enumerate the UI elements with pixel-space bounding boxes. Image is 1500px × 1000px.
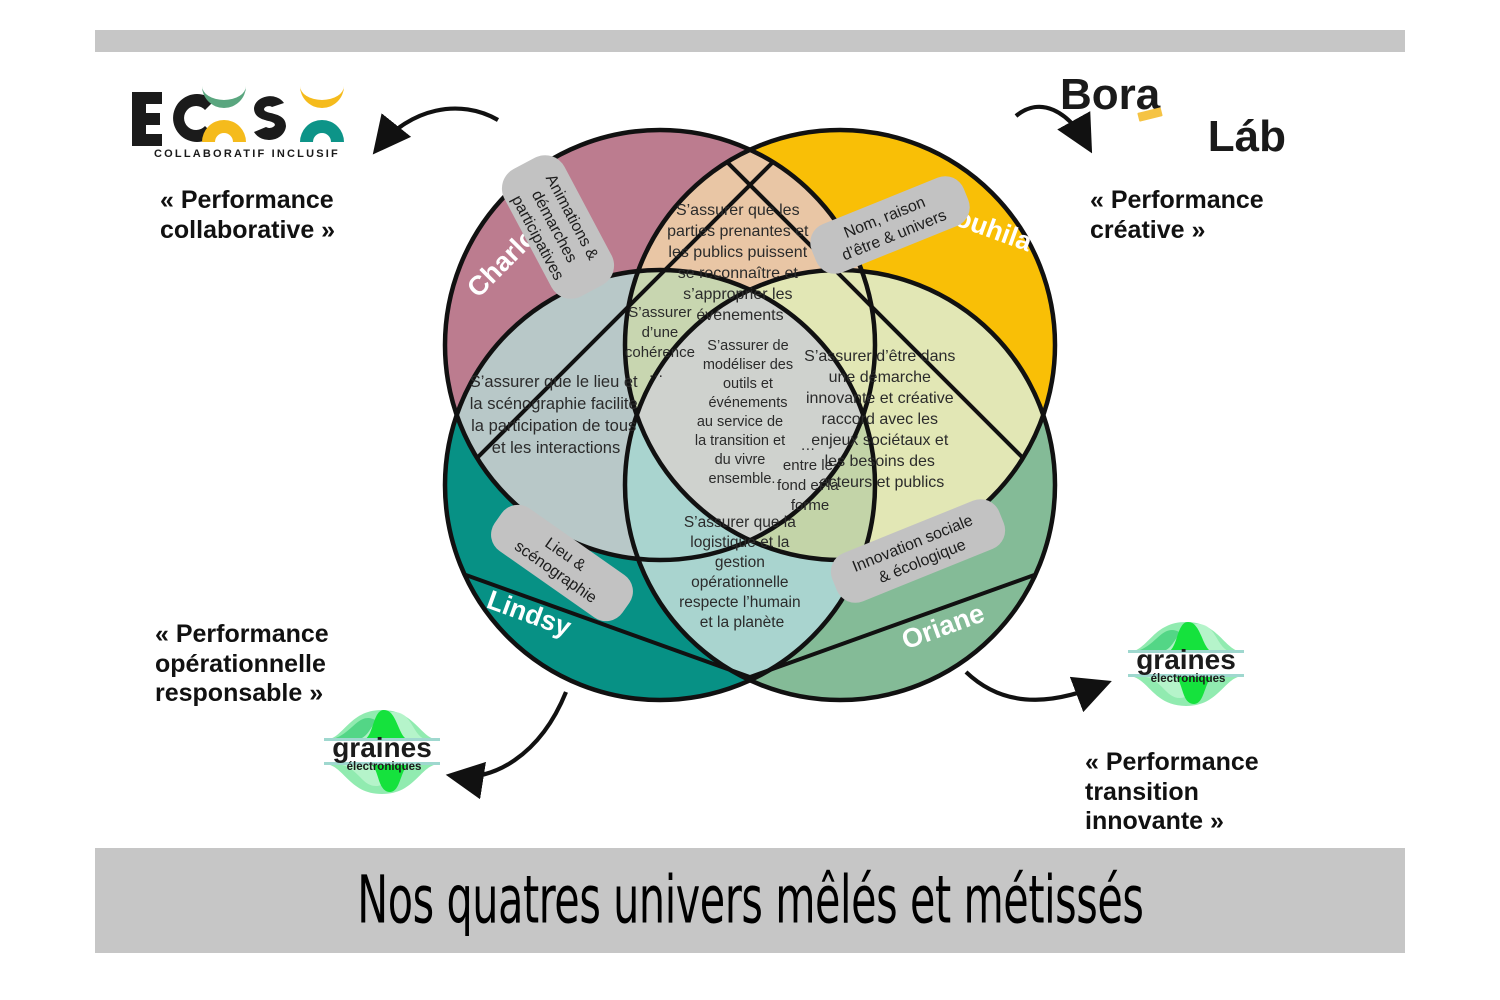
caption-performance-transition: « Performance transition innovante » (1085, 748, 1259, 837)
graines-wordmark: graines (332, 732, 432, 763)
boralab-line2-text: Láb (1208, 112, 1286, 161)
svg-text:graines: graines (1136, 644, 1236, 675)
svg-text:électroniques: électroniques (1151, 673, 1226, 685)
bottom-banner: Nos quatres univers mêlés et métissés (95, 848, 1405, 953)
ecoso-tagline: COLLABORATIF INCLUSIF (128, 148, 366, 160)
caption-performance-operationnelle: « Performance opérationnelle responsable… (155, 620, 329, 709)
bottom-banner-title: Nos quatres univers mêlés et métissés (357, 862, 1143, 939)
top-banner (95, 30, 1405, 52)
graines-subwordmark: électroniques (347, 761, 422, 773)
graines-electroniques-logo-bottom-right: graines électroniques (1122, 612, 1250, 716)
venn-diagram: Charlotte Souhila Lindsy Oriane Animatio… (370, 95, 1130, 735)
slide-canvas: COLLABORATIF INCLUSIF « Performance coll… (0, 0, 1500, 1000)
caption-performance-collaborative: « Performance collaborative » (160, 186, 335, 245)
